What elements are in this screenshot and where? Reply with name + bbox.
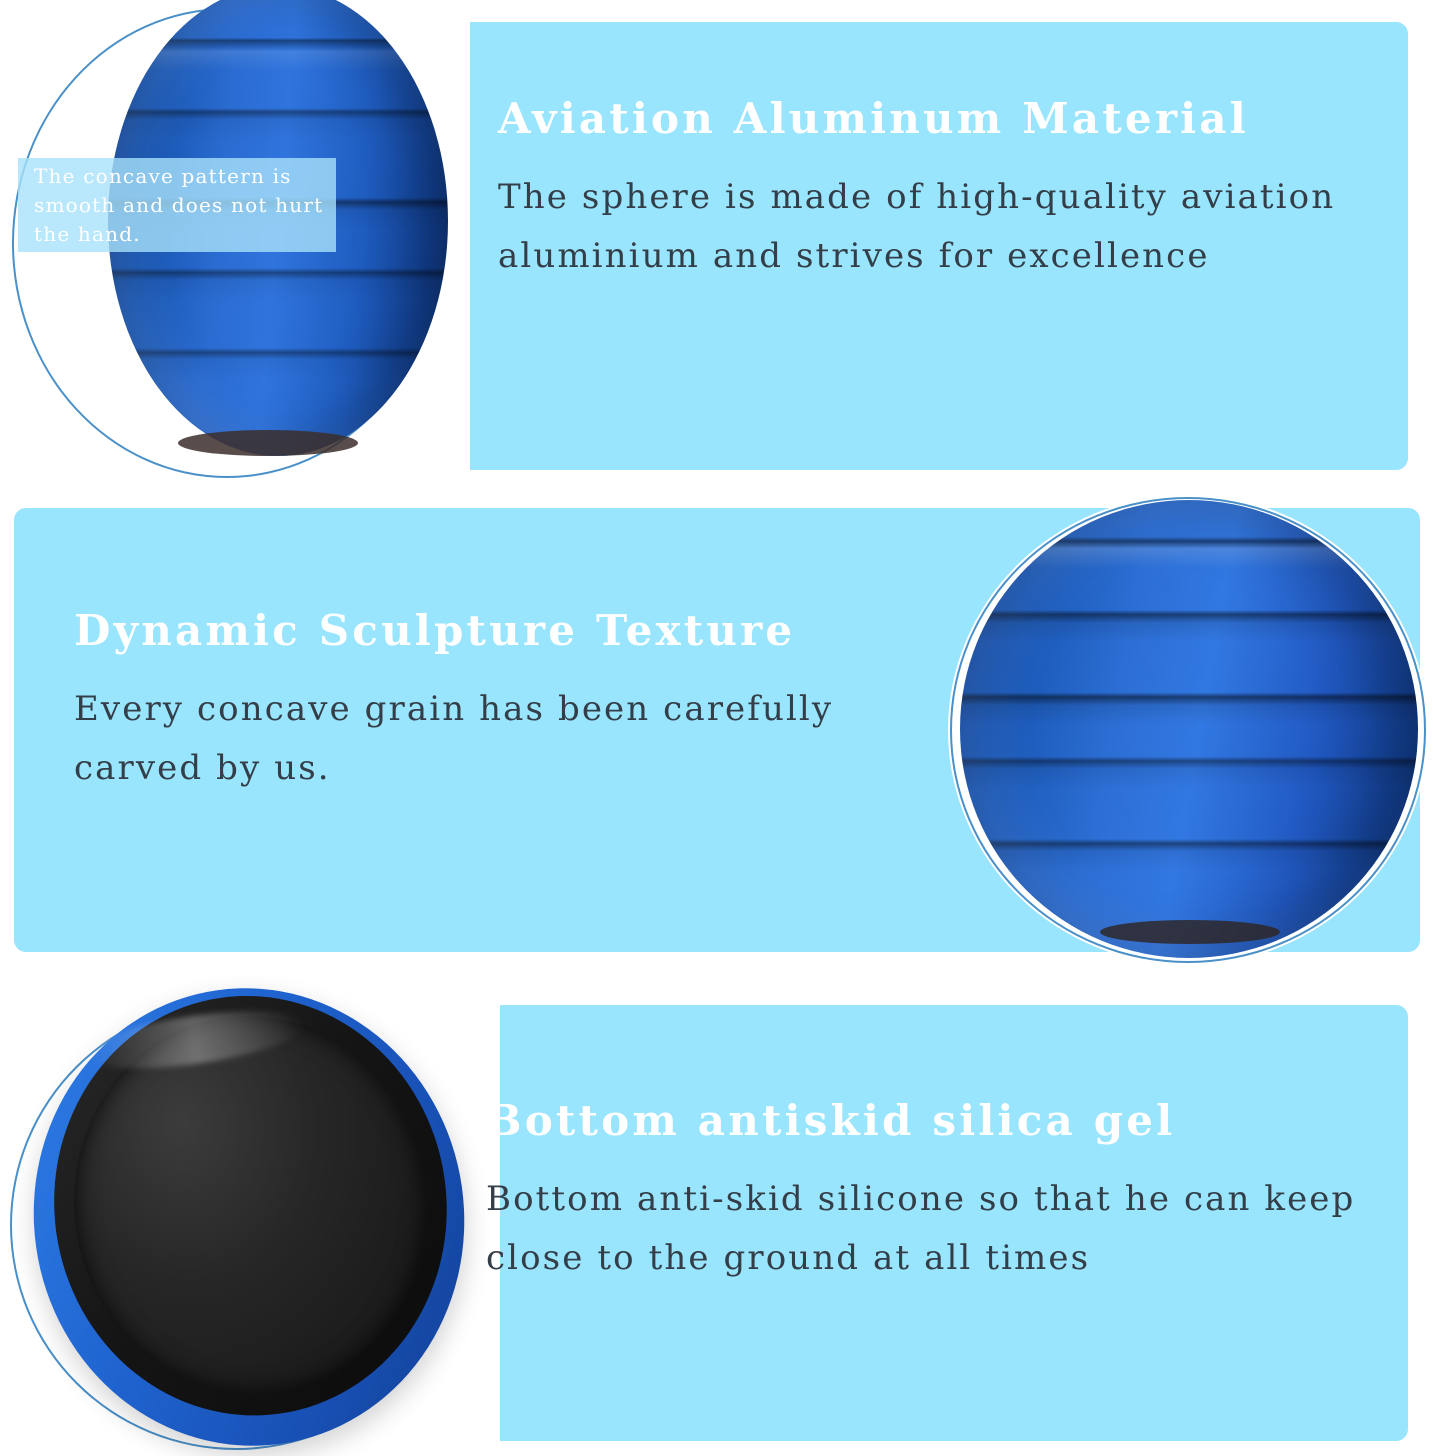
feature-heading: Dynamic Sculpture Texture: [74, 608, 934, 654]
feature-heading: Aviation Aluminum Material: [498, 96, 1378, 142]
aluminum-sphere-closeup-image: [960, 500, 1418, 958]
photo-caption-overlay: The concave pattern is smooth and does n…: [18, 158, 336, 252]
feature-body: Bottom anti-skid silicone so that he can…: [486, 1170, 1386, 1287]
photo-caption-text: The concave pattern is smooth and does n…: [34, 162, 326, 249]
ball-base-shadow: [178, 430, 358, 456]
product-feature-infographic: The concave pattern is smooth and does n…: [0, 0, 1433, 1456]
feature-text-bottom-antiskid-silica-gel: Bottom antiskid silica gel Bottom anti-s…: [486, 1098, 1386, 1287]
feature-body: Every concave grain has been carefully c…: [74, 680, 934, 797]
feature-text-dynamic-sculpture-texture: Dynamic Sculpture Texture Every concave …: [74, 608, 934, 797]
feature-body: The sphere is made of high-quality aviat…: [498, 168, 1378, 285]
sphere-base-shadow: [1100, 920, 1280, 944]
feature-heading: Bottom antiskid silica gel: [486, 1098, 1386, 1144]
feature-text-aviation-aluminum: Aviation Aluminum Material The sphere is…: [498, 96, 1378, 285]
